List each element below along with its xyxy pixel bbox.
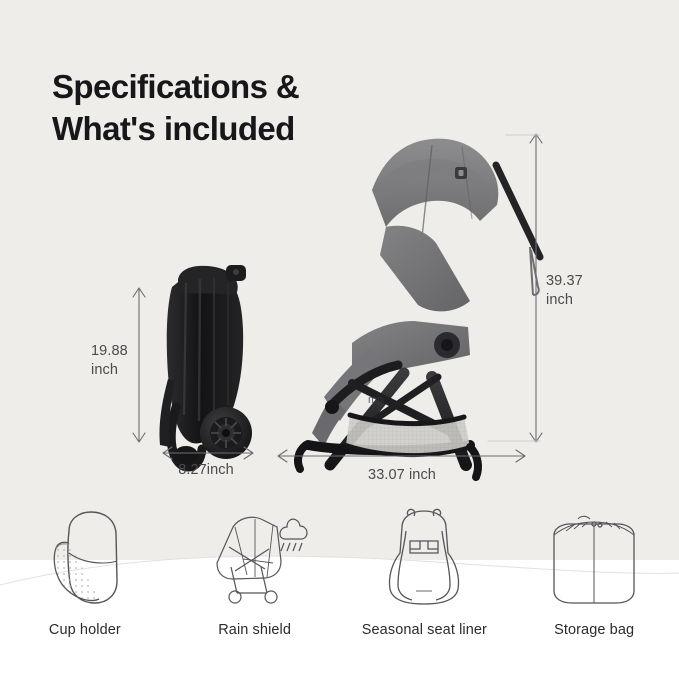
folded-stroller-photo	[159, 265, 252, 467]
accessory-label-rain-shield: Rain shield	[218, 622, 291, 638]
rain-shield-icon	[195, 505, 315, 610]
specifications-infographic: Specifications & What's included	[0, 0, 679, 679]
included-accessories-list: Cup holder	[0, 505, 679, 655]
page-title-line1: Specifications &	[52, 68, 299, 105]
folded-width-dimension-label: 8.27inch	[178, 461, 234, 480]
seat-liner-icon	[364, 505, 484, 610]
accessory-label-storage-bag: Storage bag	[554, 622, 634, 638]
folded-height-dimension-label: 19.88 inch	[91, 342, 128, 379]
accessory-label-seat-liner: Seasonal seat liner	[362, 622, 487, 638]
folded-height-dimension-arrow	[133, 288, 145, 442]
svg-text:mp: mp	[368, 394, 383, 406]
cup-holder-icon	[25, 505, 145, 610]
folded-stroller-wheel	[200, 407, 252, 459]
height-dimension-label: 39.37 inch	[546, 272, 583, 309]
accessory-item-seat-liner: Seasonal seat liner	[349, 505, 499, 638]
accessory-label-cup-holder: Cup holder	[49, 622, 121, 638]
accessory-item-cup-holder: Cup holder	[10, 505, 160, 638]
accessory-item-rain-shield: Rain shield	[180, 505, 330, 638]
accessory-item-storage-bag: Storage bag	[519, 505, 669, 638]
storage-bag-icon	[534, 505, 654, 610]
length-dimension-label: 33.07 inch	[368, 466, 436, 485]
